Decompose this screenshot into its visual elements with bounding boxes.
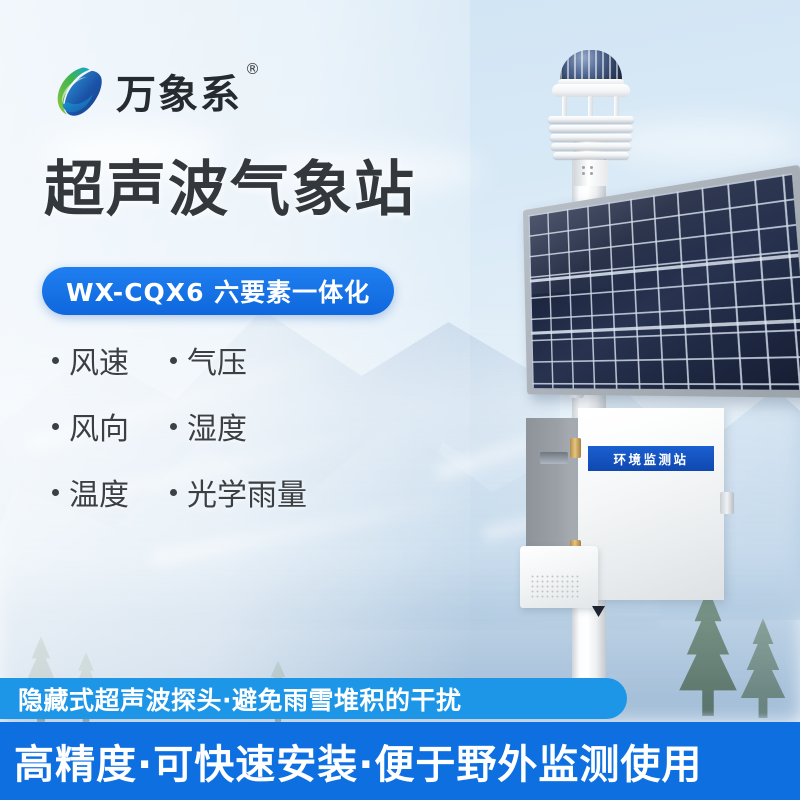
feature-row: 风速 气压 xyxy=(52,338,382,382)
sensor-post xyxy=(614,96,619,118)
model-badge-text: WX-CQX6 六要素一体化 xyxy=(66,273,370,309)
bullet-icon xyxy=(170,357,177,364)
lower-banner-text: 高精度·可快速安装·便于野外监测使用 xyxy=(0,732,702,790)
sensor-vent-holes xyxy=(582,166,585,169)
feature-item-wind-speed: 风速 xyxy=(52,338,170,382)
bullet-icon xyxy=(170,423,177,430)
product-illustration: 环境监测站 xyxy=(470,40,800,690)
feature-item-optical-rainfall: 光学雨量 xyxy=(170,470,307,514)
globe-swoosh-icon xyxy=(48,63,104,119)
registered-trademark-icon: ® xyxy=(245,60,262,78)
radiation-shield-louver xyxy=(551,143,631,150)
feature-item-temperature: 温度 xyxy=(52,470,170,514)
bullet-icon xyxy=(52,423,59,430)
feature-item-wind-direction: 风向 xyxy=(52,404,170,448)
bullet-icon xyxy=(52,489,59,496)
product-poster: 环境监测站 xyxy=(0,0,800,800)
feature-label: 温度 xyxy=(69,470,129,514)
radiation-shield-louver xyxy=(548,116,634,123)
feature-row: 温度 光学雨量 xyxy=(52,470,382,514)
lower-banner: 高精度·可快速安装·便于野外监测使用 xyxy=(0,722,800,800)
enclosure-hinge xyxy=(570,438,581,458)
brand-name: 万象系 ® xyxy=(116,62,242,120)
housing-grille xyxy=(530,574,580,600)
enclosure-nameplate-text: 环境监测站 xyxy=(613,449,688,468)
feature-label: 风向 xyxy=(69,404,129,448)
bullet-icon xyxy=(170,489,177,496)
feature-label: 气压 xyxy=(187,338,247,382)
solar-panel-frame xyxy=(523,165,800,398)
brand-name-text: 万象系 xyxy=(116,72,242,118)
feature-label: 湿度 xyxy=(187,404,247,448)
sensor-neck xyxy=(574,160,608,186)
sensor-post xyxy=(588,96,593,118)
feature-label: 风速 xyxy=(69,338,129,382)
enclosure-latch xyxy=(720,492,734,514)
upper-banner-text: 隐藏式超声波探头·避免雨雪堆积的干扰 xyxy=(0,681,462,717)
feature-list: 风速 气压 风向 湿度 温度 光学雨量 xyxy=(52,338,382,536)
feature-item-air-pressure: 气压 xyxy=(170,338,247,382)
brand-logo: 万象系 ® xyxy=(48,62,242,120)
model-badge: WX-CQX6 六要素一体化 xyxy=(42,267,394,315)
page-title: 超声波气象站 xyxy=(44,160,416,220)
sensor-post xyxy=(562,96,567,118)
feature-item-humidity: 湿度 xyxy=(170,404,247,448)
enclosure-side-vent xyxy=(540,452,568,464)
upper-banner: 隐藏式超声波探头·避免雨雪堆积的干扰 xyxy=(0,678,627,719)
solar-panel xyxy=(523,165,800,398)
radiation-shield-louver xyxy=(550,134,632,141)
feature-label: 光学雨量 xyxy=(187,470,307,514)
feature-row: 风向 湿度 xyxy=(52,404,382,448)
bullet-icon xyxy=(52,357,59,364)
enclosure-nameplate: 环境监测站 xyxy=(588,446,714,471)
radiation-shield-louver xyxy=(549,125,633,132)
radiation-shield-louver xyxy=(553,152,629,159)
ultrasonic-sensor-head xyxy=(530,50,650,170)
